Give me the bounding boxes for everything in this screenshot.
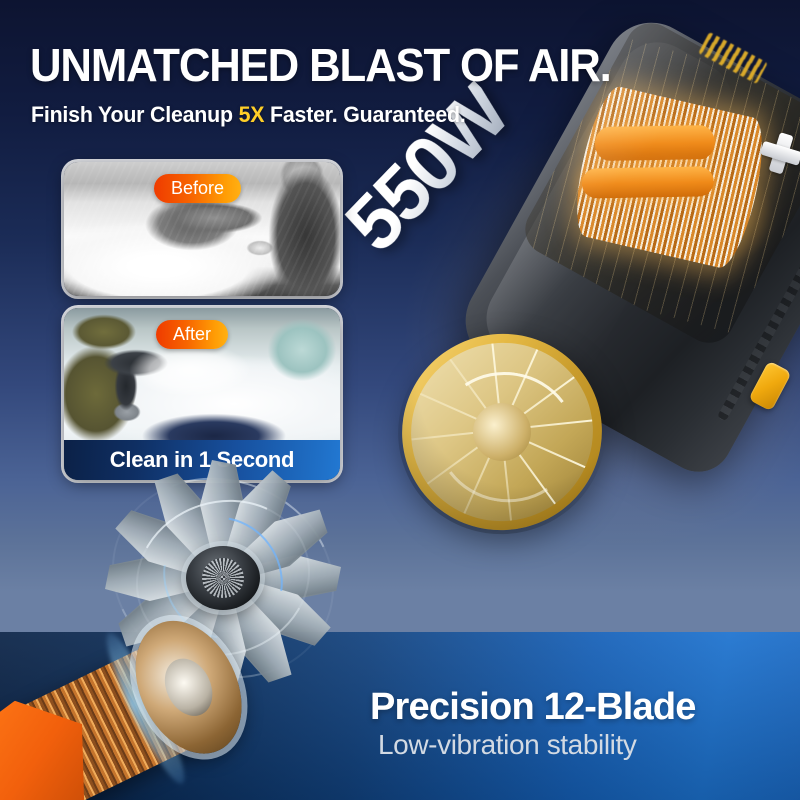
after-caption: Clean in 1 Second [64,440,340,480]
after-card[interactable]: After Clean in 1 Second [64,308,340,480]
page-subtitle: Finish Your Cleanup 5X Faster. Guarantee… [31,101,466,129]
page-title: UNMATCHED BLAST OF AIR. [30,40,611,90]
subtitle-part-2: Faster. Guaranteed. [264,102,465,127]
before-card[interactable]: Before [64,162,340,296]
promo-banner: 550W UNMATCHED BLAST OF AIR. Finish Your… [0,0,800,800]
after-badge: After [156,320,228,349]
before-badge: Before [154,174,241,203]
subtitle-highlight: 5X [239,102,265,127]
feature-subtitle: Low-vibration stability [378,729,636,761]
feature-title: Precision 12-Blade [370,686,696,729]
subtitle-part-1: Finish Your Cleanup [31,102,239,127]
hero-product-image [378,18,800,518]
